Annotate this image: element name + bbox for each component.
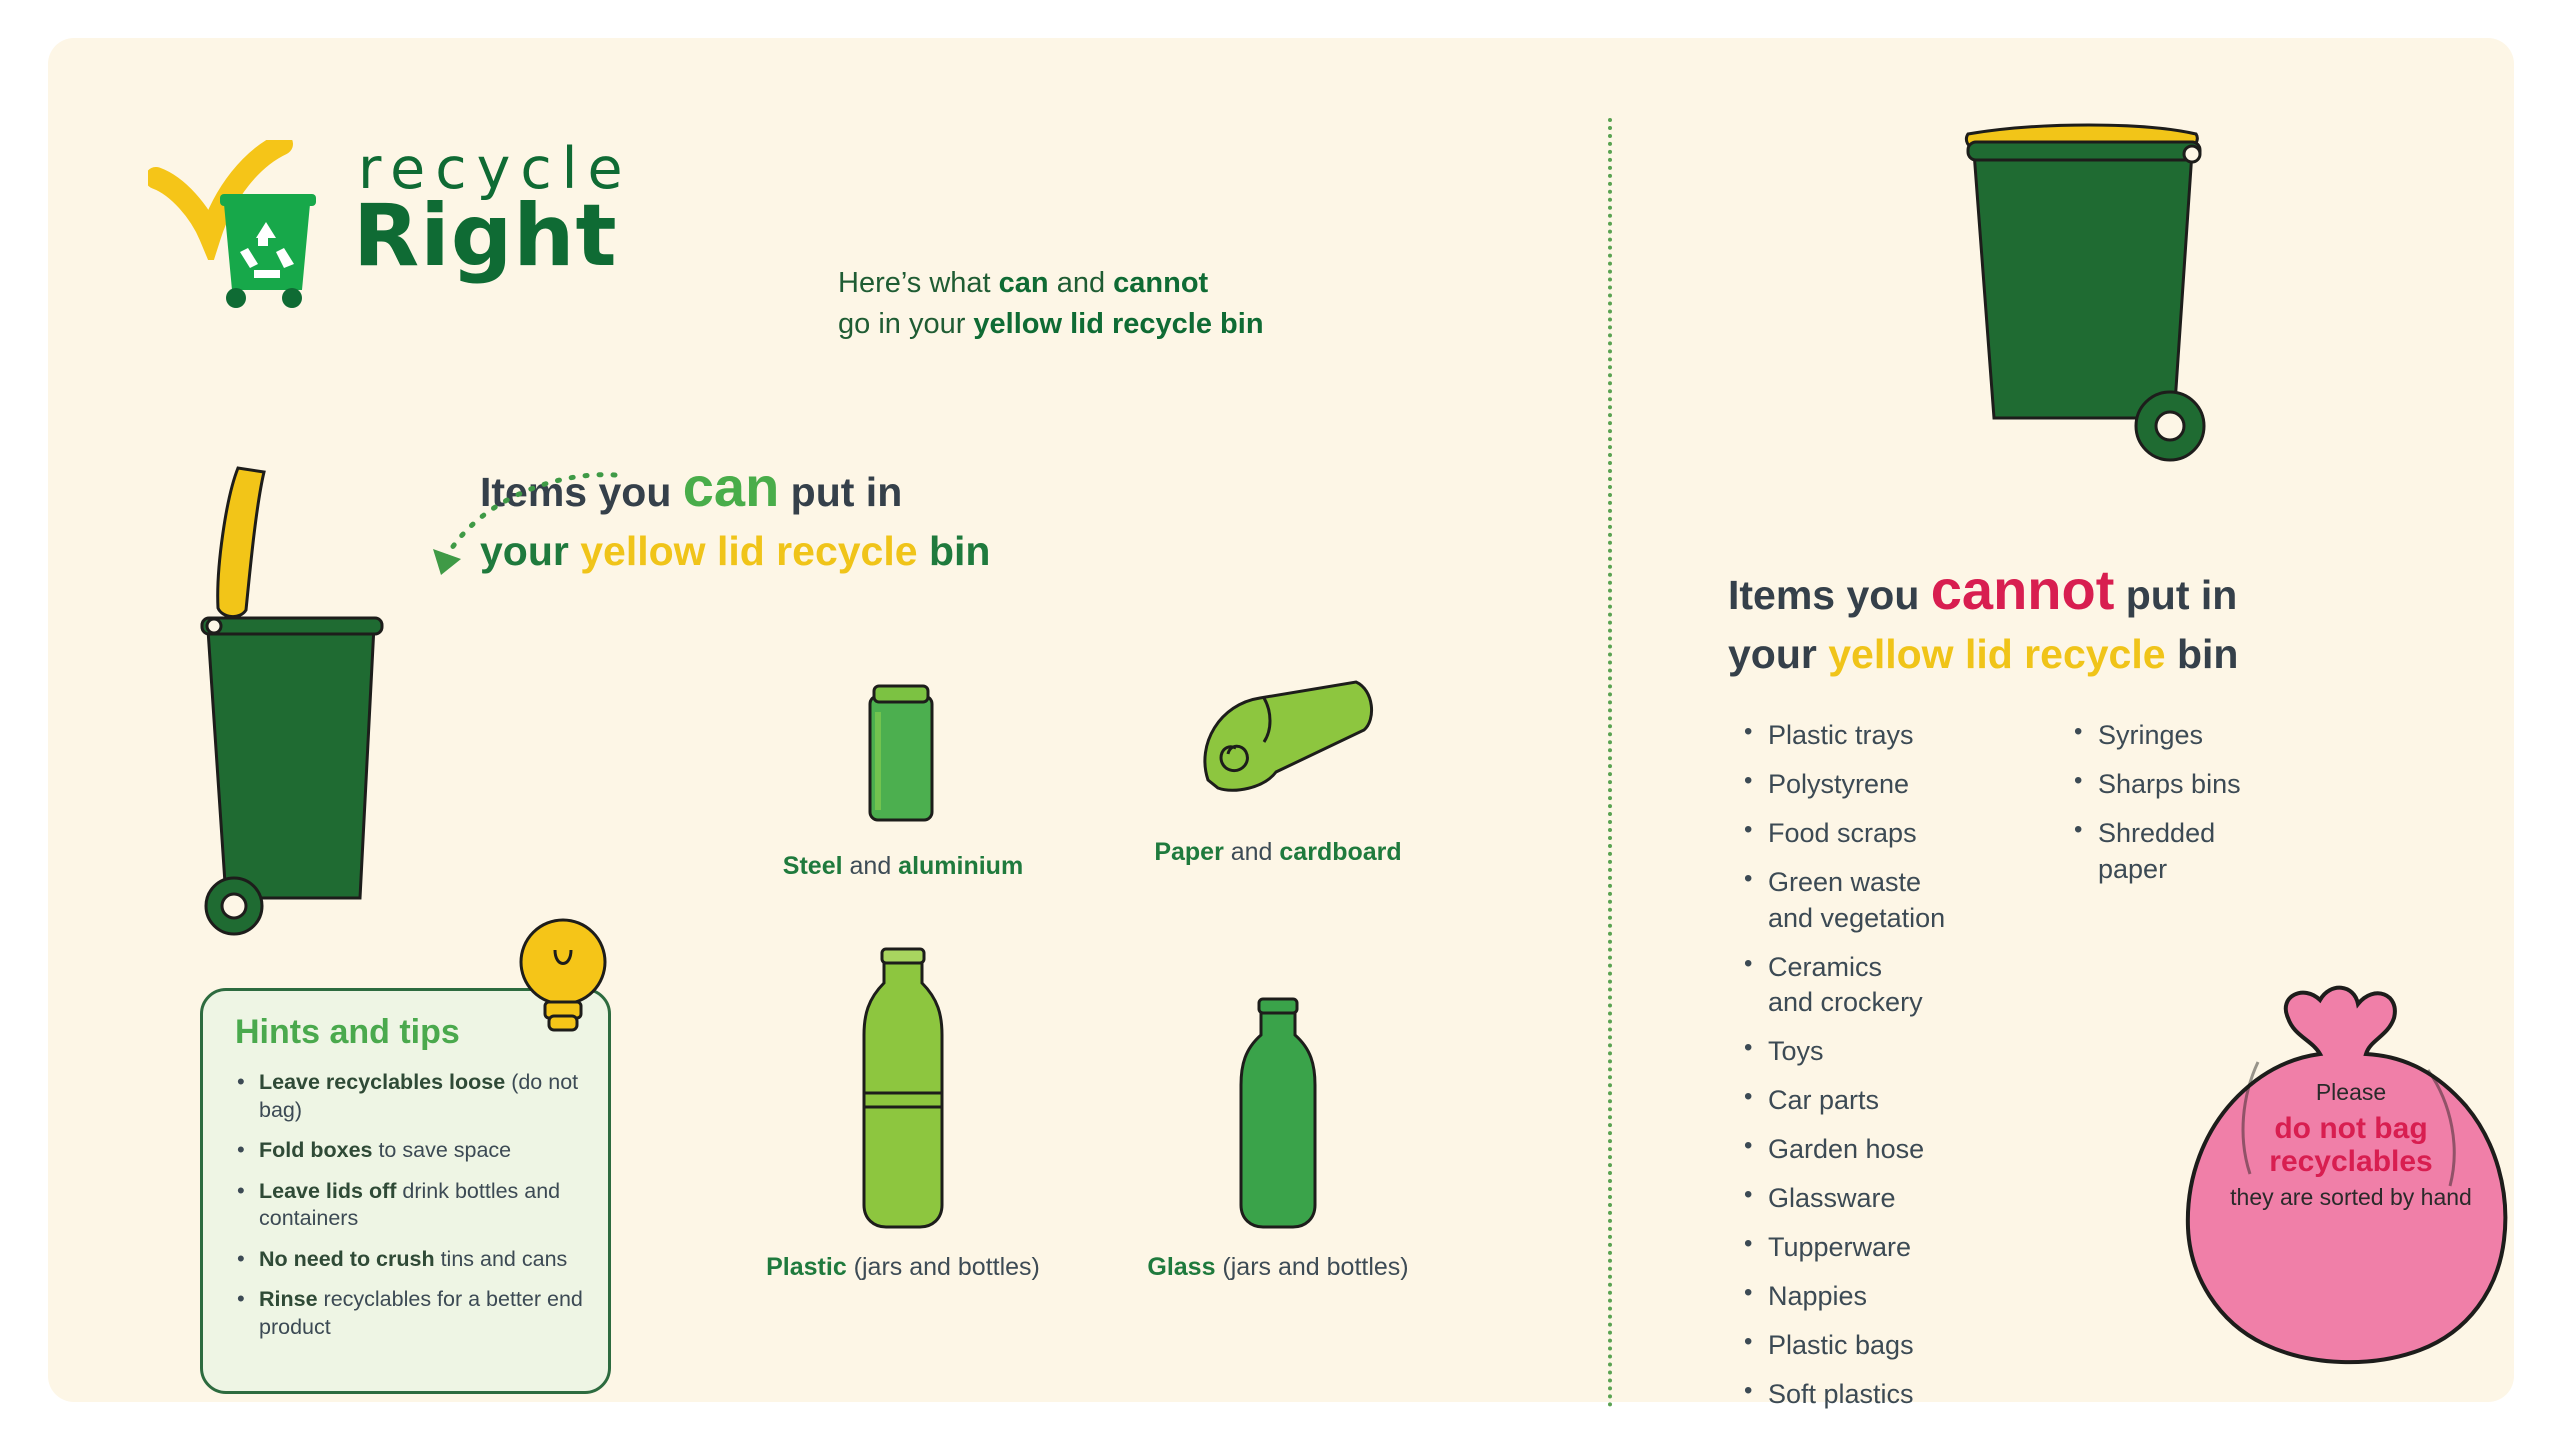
item-paper-cardboard: Paper and cardboard — [1113, 668, 1443, 867]
green-bin-closed-icon — [1948, 108, 2228, 468]
item-plastic: Plastic (jars and bottles) — [738, 943, 1068, 1282]
list-item: Toys — [1738, 1034, 2068, 1070]
plastic-bottle-icon — [828, 943, 978, 1243]
item-1-mid: and — [1224, 838, 1280, 866]
list-item: Tupperware — [1738, 1230, 2068, 1266]
cannot-list-column-1: Plastic trays Polystyrene Food scraps Gr… — [1738, 718, 2068, 1426]
green-bin-yellow-lid-icon — [178, 458, 418, 938]
hints-and-tips-box: Hints and tips Leave recyclables loose (… — [200, 988, 611, 1394]
item-1-bold2: cardboard — [1279, 838, 1401, 866]
list-item: Shredded paper — [2068, 816, 2398, 888]
item-steel-aluminium-caption: Steel and aluminium — [738, 852, 1068, 881]
list-item: Leave recyclables loose (do not bag) — [259, 1069, 599, 1124]
cannot-heading-emphasis: cannot — [1931, 558, 2115, 621]
cannot-heading-part1: Items you — [1728, 572, 1931, 618]
intro-can: can — [999, 267, 1049, 299]
list-item: Leave lids off drink bottles and contain… — [259, 1178, 599, 1233]
item-0-mid: and — [843, 852, 899, 880]
hint-2-bold: Leave lids off — [259, 1179, 396, 1203]
recycle-bin-logo-icon — [210, 186, 340, 316]
item-3-bold: Glass — [1147, 1253, 1215, 1281]
list-item: Car parts — [1738, 1083, 2068, 1119]
hints-title: Hints and tips — [235, 1013, 460, 1052]
hint-0-bold: Leave recyclables loose — [259, 1070, 505, 1094]
list-item: Fold boxes to save space — [259, 1137, 599, 1165]
lightbulb-icon — [503, 910, 623, 1040]
item-steel-aluminium: Steel and aluminium — [738, 678, 1068, 881]
list-item: Glassware — [1738, 1181, 2068, 1217]
can-heading-line2-b: bin — [918, 528, 991, 574]
intro-line1-b: and — [1049, 267, 1114, 299]
cannot-heading-line2-b: bin — [2166, 631, 2239, 677]
item-2-bold: Plastic — [766, 1253, 847, 1281]
cannot-heading: Items you cannot put in your yellow lid … — [1728, 553, 2558, 681]
hint-1-rest: to save space — [372, 1138, 511, 1162]
glass-bottle-icon — [1203, 993, 1353, 1243]
do-not-bag-note: Please do not bag recyclables they are s… — [2226, 1078, 2476, 1213]
item-3-mid: (jars and bottles) — [1215, 1253, 1408, 1281]
item-0-bold: Steel — [783, 852, 843, 880]
list-item: Plastic trays — [1738, 718, 2068, 754]
item-0-bold2: aluminium — [898, 852, 1023, 880]
list-item: Plastic bags — [1738, 1328, 2068, 1364]
list-item: No need to crush tins and cans — [259, 1246, 599, 1274]
aluminium-can-icon — [838, 678, 968, 838]
item-2-mid: (jars and bottles) — [847, 1253, 1040, 1281]
intro-line2-b: yellow lid recycle bin — [973, 308, 1263, 340]
list-item: Green waste and vegetation — [1738, 865, 2068, 937]
list-item: Nappies — [1738, 1279, 2068, 1315]
item-glass-caption: Glass (jars and bottles) — [1113, 1253, 1443, 1282]
cannot-heading-part2: put in — [2114, 572, 2237, 618]
cannot-heading-line2-a: your — [1728, 631, 1828, 677]
vertical-dotted-divider — [1608, 118, 1612, 1408]
intro-line1-a: Here’s what — [838, 267, 999, 299]
item-paper-cardboard-caption: Paper and cardboard — [1113, 838, 1443, 867]
hints-list: Leave recyclables loose (do not bag) Fol… — [231, 1069, 627, 1354]
list-item: Sharps bins — [2068, 767, 2398, 803]
list-item: Syringes — [2068, 718, 2398, 754]
list-item: Polystyrene — [1738, 767, 2068, 803]
hint-3-rest: tins and cans — [435, 1247, 568, 1271]
can-heading-emphasis: can — [683, 455, 780, 518]
cannot-list-column-2: Syringes Sharps bins Shredded paper — [2068, 718, 2398, 901]
can-heading-part2: put in — [779, 469, 902, 515]
cannot-heading-line2-yellow: yellow lid recycle — [1828, 631, 2165, 677]
brand-word-right: Right — [353, 186, 618, 286]
item-1-bold: Paper — [1154, 838, 1223, 866]
list-item: Garden hose — [1738, 1132, 2068, 1168]
dotted-curved-arrow-icon — [403, 463, 623, 593]
bag-note-strong: do not bag recyclables — [2226, 1112, 2476, 1179]
intro-cannot: cannot — [1113, 267, 1208, 299]
bag-note-line1: Please — [2316, 1079, 2386, 1105]
bag-note-line2: they are sorted by hand — [2230, 1184, 2472, 1210]
hint-4-bold: Rinse — [259, 1287, 318, 1311]
item-plastic-caption: Plastic (jars and bottles) — [738, 1253, 1068, 1282]
list-item: Food scraps — [1738, 816, 2068, 852]
rolled-cardboard-icon — [1168, 668, 1388, 838]
item-glass: Glass (jars and bottles) — [1113, 993, 1443, 1282]
list-item: Soft plastics — [1738, 1377, 2068, 1413]
list-item: Ceramics and crockery — [1738, 950, 2068, 1022]
intro-text: Here’s what can and cannot go in your ye… — [838, 263, 1538, 345]
poster-canvas: recycle Right Here’s what can and cannot… — [48, 38, 2514, 1402]
hint-1-bold: Fold boxes — [259, 1138, 372, 1162]
list-item: Rinse recyclables for a better end produ… — [259, 1286, 599, 1341]
intro-line2-a: go in your — [838, 308, 973, 340]
hint-3-bold: No need to crush — [259, 1247, 435, 1271]
can-heading-line2-yellow: yellow lid recycle — [580, 528, 917, 574]
brand-logo: recycle Right — [148, 128, 788, 288]
